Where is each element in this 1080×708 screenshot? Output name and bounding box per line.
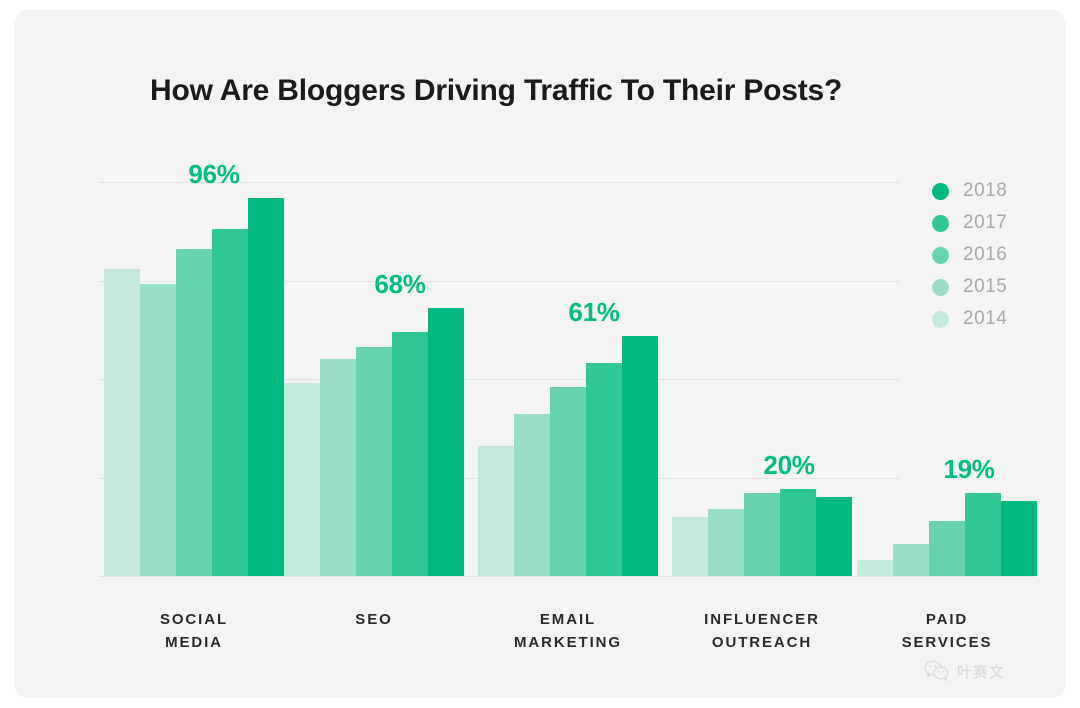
value-label: 61%	[519, 297, 669, 328]
bar-group	[284, 182, 464, 576]
bar[interactable]	[212, 229, 248, 576]
legend-label: 2018	[963, 180, 1007, 202]
watermark: 叶赛文	[924, 660, 1005, 682]
bar[interactable]	[392, 332, 428, 576]
legend-color-swatch	[932, 279, 949, 296]
chart-legend: 20182017201620152014	[932, 175, 1007, 335]
value-label: 68%	[325, 269, 475, 300]
bar[interactable]	[284, 383, 320, 576]
bar[interactable]	[356, 347, 392, 576]
bar[interactable]	[1001, 501, 1037, 576]
bar[interactable]	[965, 493, 1001, 576]
value-label: 19%	[894, 454, 1044, 485]
legend-label: 2014	[963, 308, 1007, 330]
legend-color-swatch	[932, 215, 949, 232]
category-label: SEO	[264, 608, 484, 631]
bar[interactable]	[248, 198, 284, 576]
bar[interactable]	[672, 517, 708, 576]
bar[interactable]	[140, 284, 176, 576]
legend-color-swatch	[932, 183, 949, 200]
bar[interactable]	[816, 497, 852, 576]
infographic-card: How Are Bloggers Driving Traffic To Thei…	[14, 10, 1066, 698]
bar[interactable]	[780, 489, 816, 576]
legend-label: 2015	[963, 276, 1007, 298]
legend-label: 2017	[963, 212, 1007, 234]
legend-item-2016[interactable]: 2016	[932, 239, 1007, 271]
bar-group	[104, 182, 284, 576]
bar[interactable]	[744, 493, 780, 576]
value-label: 20%	[714, 450, 864, 481]
bar[interactable]	[586, 363, 622, 576]
bar[interactable]	[176, 249, 212, 576]
legend-item-2017[interactable]: 2017	[932, 207, 1007, 239]
watermark-text: 叶赛文	[957, 661, 1005, 682]
bar[interactable]	[320, 359, 356, 576]
bar-group	[478, 182, 658, 576]
legend-color-swatch	[932, 247, 949, 264]
bar[interactable]	[929, 521, 965, 576]
bar[interactable]	[514, 414, 550, 576]
bar-chart-plot-area	[99, 182, 899, 576]
bar[interactable]	[104, 269, 140, 576]
legend-item-2015[interactable]: 2015	[932, 271, 1007, 303]
bar[interactable]	[428, 308, 464, 576]
page-title: How Are Bloggers Driving Traffic To Thei…	[150, 74, 1010, 108]
legend-item-2018[interactable]: 2018	[932, 175, 1007, 207]
bar[interactable]	[622, 336, 658, 576]
bar[interactable]	[893, 544, 929, 576]
bar[interactable]	[478, 446, 514, 576]
bar-group	[672, 182, 852, 576]
legend-label: 2016	[963, 244, 1007, 266]
category-label: PAID SERVICES	[837, 608, 1057, 654]
legend-color-swatch	[932, 311, 949, 328]
bar[interactable]	[857, 560, 893, 576]
value-label: 96%	[139, 159, 289, 190]
wechat-icon	[924, 660, 950, 682]
bar[interactable]	[708, 509, 744, 576]
legend-item-2014[interactable]: 2014	[932, 303, 1007, 335]
bar[interactable]	[550, 387, 586, 576]
category-label: EMAIL MARKETING	[458, 608, 678, 654]
